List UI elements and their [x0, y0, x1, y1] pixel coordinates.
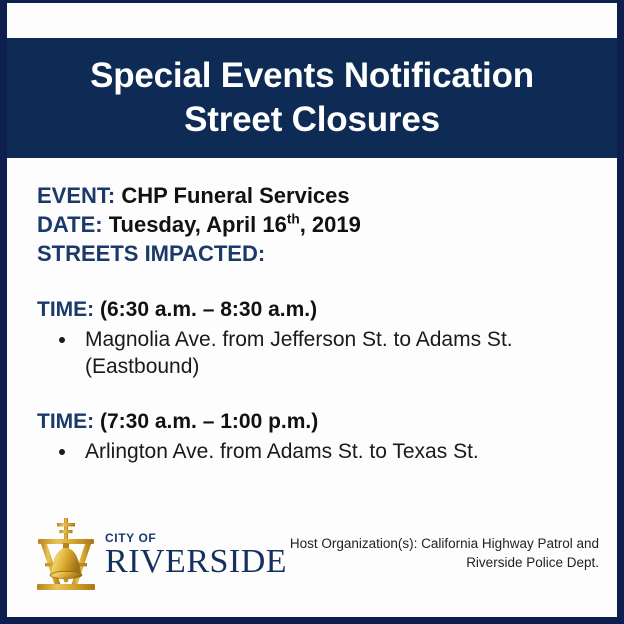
flyer-page: Special Events Notification Street Closu… [0, 0, 624, 624]
closure-1-time-value: (6:30 a.m. – 8:30 a.m.) [100, 298, 317, 321]
closure-2-time-value: (7:30 a.m. – 1:00 p.m.) [100, 410, 318, 433]
date-line: DATE: Tuesday, April 16th, 2019 [37, 210, 593, 239]
list-item: Arlington Ave. from Adams St. to Texas S… [37, 438, 593, 465]
closure-1-time-line: TIME: (6:30 a.m. – 8:30 a.m.) [37, 296, 593, 324]
streets-impacted-label: STREETS IMPACTED: [37, 241, 265, 266]
bullet-dot-icon [59, 449, 65, 455]
mission-bell-icon [29, 516, 103, 594]
spacer-1 [37, 268, 593, 296]
date-label: DATE: [37, 212, 103, 237]
event-label: EVENT: [37, 183, 115, 208]
list-item: Magnolia Ave. from Jefferson St. to Adam… [37, 326, 593, 380]
date-value-year: , 2019 [300, 212, 361, 237]
closure-1-street-list: Magnolia Ave. from Jefferson St. to Adam… [37, 326, 593, 380]
closure-2-street-0: Arlington Ave. from Adams St. to Texas S… [85, 440, 479, 463]
logo-city-of-text: CITY OF [105, 532, 287, 544]
closure-1-time-label: TIME: [37, 298, 94, 321]
closure-2-street-list: Arlington Ave. from Adams St. to Texas S… [37, 438, 593, 465]
closure-block-2: TIME: (7:30 a.m. – 1:00 p.m.) Arlington … [37, 408, 593, 465]
date-value-ordinal: th [287, 212, 300, 227]
page-title-line-1: Special Events Notification [90, 54, 534, 98]
footer: CITY OF RIVERSIDE Host Organization(s): … [7, 512, 617, 617]
spacer-2 [37, 380, 593, 408]
closure-block-1: TIME: (6:30 a.m. – 8:30 a.m.) Magnolia A… [37, 296, 593, 380]
event-line: EVENT: CHP Funeral Services [37, 181, 593, 210]
notification-body: EVENT: CHP Funeral Services DATE: Tuesda… [7, 163, 617, 512]
city-of-riverside-logo: CITY OF RIVERSIDE [29, 516, 287, 594]
bullet-dot-icon [59, 337, 65, 343]
closure-2-time-label: TIME: [37, 410, 94, 433]
host-organization-line-2: Riverside Police Dept. [290, 553, 599, 572]
logo-riverside-text: RIVERSIDE [105, 545, 287, 579]
streets-impacted-line: STREETS IMPACTED: [37, 239, 593, 268]
header-banner: Special Events Notification Street Closu… [7, 38, 617, 158]
logo-wordmark: CITY OF RIVERSIDE [105, 532, 287, 579]
closure-1-street-0: Magnolia Ave. from Jefferson St. to Adam… [85, 328, 513, 378]
page-title-line-2: Street Closures [184, 98, 440, 142]
host-organization-block: Host Organization(s): California Highway… [290, 534, 599, 572]
date-value: Tuesday, April 16th, 2019 [109, 212, 361, 237]
closure-2-time-line: TIME: (7:30 a.m. – 1:00 p.m.) [37, 408, 593, 436]
event-value: CHP Funeral Services [121, 183, 349, 208]
host-organization-line-1: Host Organization(s): California Highway… [290, 534, 599, 553]
flyer-inner: Special Events Notification Street Closu… [7, 3, 617, 617]
date-value-main: Tuesday, April 16 [109, 212, 287, 237]
